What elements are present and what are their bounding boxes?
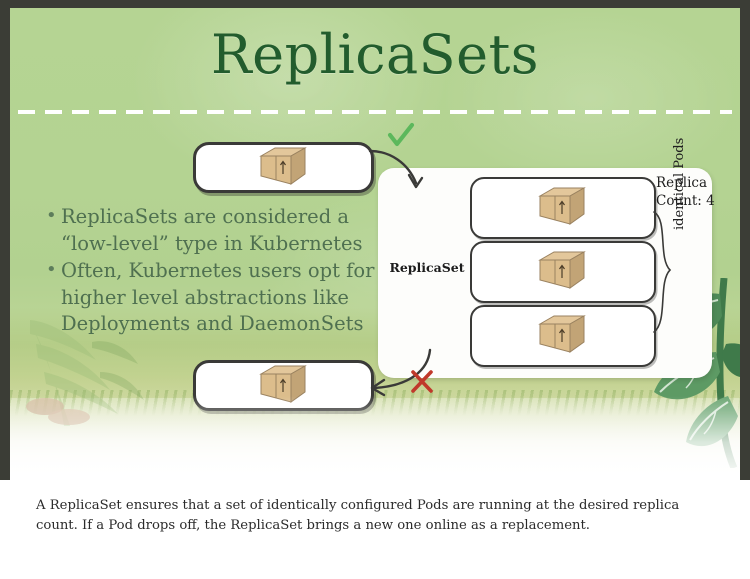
- pod-box-icon: [536, 250, 588, 292]
- replica-count-label: Replica Count: 4: [656, 174, 734, 210]
- stones-decoration: [20, 398, 110, 428]
- identical-pods-label: identical Pods: [672, 138, 687, 230]
- check-mark-icon: [386, 122, 416, 150]
- replicaset-label: ReplicaSet: [386, 260, 468, 275]
- replicaset-panel: ReplicaSet: [378, 168, 712, 378]
- pod-slot: [470, 305, 656, 367]
- pod-slot: [470, 177, 656, 239]
- incoming-arrow-icon: [368, 145, 430, 193]
- incoming-pod-card: [193, 142, 374, 193]
- pod-box-icon: [536, 186, 588, 228]
- bullet-item: ReplicaSets are considered a “low-level”…: [46, 204, 376, 257]
- stone-shape: [48, 409, 90, 425]
- bullet-item: Often, Kubernetes users opt for higher l…: [46, 258, 376, 338]
- slide-canvas: ReplicaSets ReplicaSets are considered a…: [10, 8, 740, 480]
- title-divider: [18, 110, 732, 114]
- pod-box-icon: [257, 146, 309, 188]
- pod-box-icon: [536, 314, 588, 356]
- background-mist-fade: [10, 396, 740, 480]
- pod-box-icon: [257, 364, 309, 406]
- bullet-list: ReplicaSets are considered a “low-level”…: [46, 204, 376, 339]
- page-title: ReplicaSets: [10, 20, 740, 90]
- cross-mark-icon: [408, 368, 436, 396]
- stone-shape: [26, 398, 64, 415]
- pod-slot: [470, 241, 656, 303]
- outgoing-pod-card: [193, 360, 374, 411]
- slide-caption: A ReplicaSet ensures that a set of ident…: [36, 496, 720, 535]
- slide-frame: ReplicaSets ReplicaSets are considered a…: [0, 0, 750, 480]
